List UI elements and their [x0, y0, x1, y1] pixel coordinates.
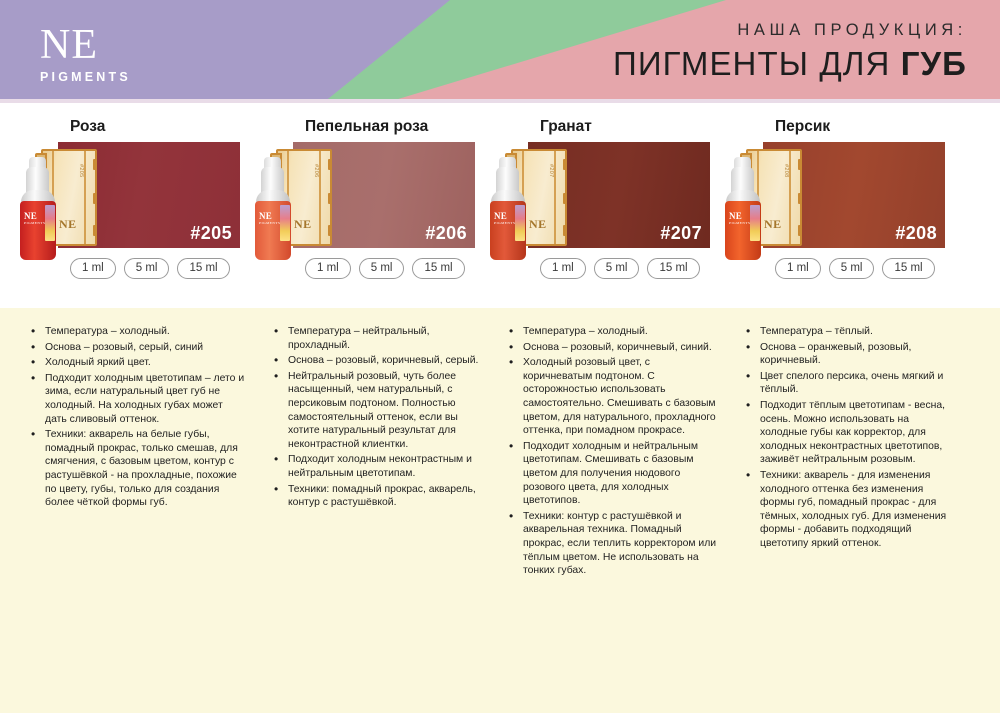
box-brand-label: NE [59, 217, 77, 232]
description-bullet: Основа – розовый, серый, синий [28, 341, 247, 355]
bottle-sticker [45, 205, 55, 241]
bottle-body: NEPIGMENTS [255, 201, 291, 260]
product-code: #205 [190, 223, 232, 244]
volume-options: 1 ml5 ml15 ml [70, 258, 230, 279]
product-catalog-page: NE PIGMENTS НАША ПРОДУКЦИЯ: ПИГМЕНТЫ ДЛЯ… [0, 0, 1000, 713]
description-bullet: Основа – оранжевый, розовый, коричневый. [743, 341, 952, 368]
box-tab [798, 225, 802, 236]
box-tab [93, 193, 97, 204]
box-tab [563, 225, 567, 236]
box-seam-right [789, 151, 791, 244]
bottle-sticker [515, 205, 525, 241]
bottle-body: NEPIGMENTS [20, 201, 56, 260]
description-bullet: Основа – розовый, коричневый, серый. [271, 354, 482, 368]
bottle-sticker [750, 205, 760, 241]
volume-option-pill[interactable]: 1 ml [70, 258, 116, 279]
product-name: Роза [70, 118, 105, 136]
product-code: #206 [425, 223, 467, 244]
box-code-label: #207 [548, 164, 554, 177]
pigment-bottle-icon: NEPIGMENTS [253, 157, 293, 260]
product-code: #208 [895, 223, 937, 244]
description-bullet: Подходит холодным цветотипам – лето и зи… [28, 372, 247, 426]
volume-options: 1 ml5 ml15 ml [540, 258, 700, 279]
product-card-list: Роза#205#205NENEPIGMENTS1 ml5 ml15 mlПеп… [0, 103, 1000, 308]
product-card[interactable]: Гранат#207#207NENEPIGMENTS1 ml5 ml15 ml [488, 103, 723, 308]
volume-options: 1 ml5 ml15 ml [775, 258, 935, 279]
description-bullet: Подходит холодным неконтрастным и нейтра… [271, 453, 482, 480]
description-bullet: Температура – нейтральный, прохладный. [271, 325, 482, 352]
logo-wordmark: NE [40, 25, 131, 65]
product-name: Пепельная роза [305, 118, 428, 136]
bottle-body: NEPIGMENTS [490, 201, 526, 260]
description-column: Температура – нейтральный, прохладный.Ос… [263, 325, 498, 580]
description-bullet: Температура – холодный. [506, 325, 717, 339]
pigment-bottle-icon: NEPIGMENTS [488, 157, 528, 260]
page-header: NE PIGMENTS НАША ПРОДУКЦИЯ: ПИГМЕНТЫ ДЛЯ… [0, 0, 1000, 103]
pigment-bottle-icon: NEPIGMENTS [18, 157, 58, 260]
box-brand-label: NE [764, 217, 782, 232]
description-bullet: Холодный яркий цвет. [28, 356, 247, 370]
description-bullet-list: Температура – холодный.Основа – розовый,… [506, 325, 717, 578]
product-code: #207 [660, 223, 702, 244]
box-brand-label: NE [529, 217, 547, 232]
bottle-brand-label: NEPIGMENTS [24, 211, 46, 225]
volume-option-pill[interactable]: 5 ml [829, 258, 875, 279]
box-seam-right [84, 151, 86, 244]
description-bullet: Температура – тёплый. [743, 325, 952, 339]
bottle-body: NEPIGMENTS [725, 201, 761, 260]
bottle-sticker [280, 205, 290, 241]
box-tab [328, 225, 332, 236]
bottle-brand-label: NEPIGMENTS [729, 211, 751, 225]
volume-option-pill[interactable]: 15 ml [882, 258, 934, 279]
box-tab [798, 193, 802, 204]
volume-option-pill[interactable]: 5 ml [359, 258, 405, 279]
page-title-bold: ГУБ [901, 45, 967, 82]
page-title-normal: ПИГМЕНТЫ ДЛЯ [613, 45, 901, 82]
description-column: Температура – холодный.Основа – розовый,… [498, 325, 733, 580]
bottle-brand-label: NEPIGMENTS [494, 211, 516, 225]
box-tab [798, 159, 802, 170]
volume-option-pill[interactable]: 1 ml [305, 258, 351, 279]
volume-options: 1 ml5 ml15 ml [305, 258, 465, 279]
box-tab [328, 159, 332, 170]
description-bullet: Техники: акварель на белые губы, помадны… [28, 428, 247, 510]
description-bullet: Техники: акварель - для изменения холодн… [743, 469, 952, 551]
bottle-brand-label: NEPIGMENTS [259, 211, 281, 225]
product-name: Персик [775, 118, 830, 136]
box-seam-right [554, 151, 556, 244]
logo-subtitle: PIGMENTS [40, 70, 131, 84]
description-bullet: Техники: помадный прокрас, акварель, кон… [271, 483, 482, 510]
description-bullet: Цвет спелого персика, очень мягкий и тёп… [743, 370, 952, 397]
box-seam-right [319, 151, 321, 244]
description-bullet-list: Температура – тёплый.Основа – оранжевый,… [743, 325, 952, 551]
volume-option-pill[interactable]: 1 ml [775, 258, 821, 279]
box-tab [563, 159, 567, 170]
description-bullet: Нейтральный розовый, чуть более насыщенн… [271, 370, 482, 452]
description-bullet: Подходит тёплым цветотипам - весна, осен… [743, 399, 952, 467]
volume-option-pill[interactable]: 5 ml [594, 258, 640, 279]
volume-option-pill[interactable]: 1 ml [540, 258, 586, 279]
volume-option-pill[interactable]: 5 ml [124, 258, 170, 279]
page-title: ПИГМЕНТЫ ДЛЯ ГУБ [613, 45, 967, 83]
volume-option-pill[interactable]: 15 ml [412, 258, 464, 279]
description-bullet-list: Температура – нейтральный, прохладный.Ос… [271, 325, 482, 510]
description-panel: Температура – холодный.Основа – розовый,… [0, 308, 1000, 713]
product-band: Роза#205#205NENEPIGMENTS1 ml5 ml15 mlПеп… [0, 103, 1000, 308]
description-columns: Температура – холодный.Основа – розовый,… [0, 308, 1000, 580]
pigment-bottle-icon: NEPIGMENTS [723, 157, 763, 260]
description-column: Температура – холодный.Основа – розовый,… [28, 325, 263, 580]
box-tab [328, 193, 332, 204]
product-card[interactable]: Персик#208#208NENEPIGMENTS1 ml5 ml15 ml [723, 103, 958, 308]
description-bullet: Подходит холодным и нейтральным цветотип… [506, 440, 717, 508]
volume-option-pill[interactable]: 15 ml [177, 258, 229, 279]
product-card[interactable]: Пепельная роза#206#206NENEPIGMENTS1 ml5 … [253, 103, 488, 308]
description-bullet: Температура – холодный. [28, 325, 247, 339]
product-card[interactable]: Роза#205#205NENEPIGMENTS1 ml5 ml15 ml [18, 103, 253, 308]
box-tab [93, 159, 97, 170]
header-kicker: НАША ПРОДУКЦИЯ: [613, 21, 967, 40]
volume-option-pill[interactable]: 15 ml [647, 258, 699, 279]
product-name: Гранат [540, 118, 592, 136]
description-column: Температура – тёплый.Основа – оранжевый,… [733, 325, 968, 580]
box-brand-label: NE [294, 217, 312, 232]
header-titles: НАША ПРОДУКЦИЯ: ПИГМЕНТЫ ДЛЯ ГУБ [613, 21, 967, 83]
description-bullet: Техники: контур с растушёвкой и акварель… [506, 510, 717, 578]
box-tab [93, 225, 97, 236]
description-bullet-list: Температура – холодный.Основа – розовый,… [28, 325, 247, 510]
description-bullet: Холодный розовый цвет, с коричневатым по… [506, 356, 717, 438]
box-code-label: #206 [313, 164, 319, 177]
description-bullet: Основа – розовый, коричневый, синий. [506, 341, 717, 355]
box-code-label: #205 [78, 164, 84, 177]
box-code-label: #208 [783, 164, 789, 177]
box-tab [563, 193, 567, 204]
brand-logo: NE PIGMENTS [40, 25, 131, 84]
